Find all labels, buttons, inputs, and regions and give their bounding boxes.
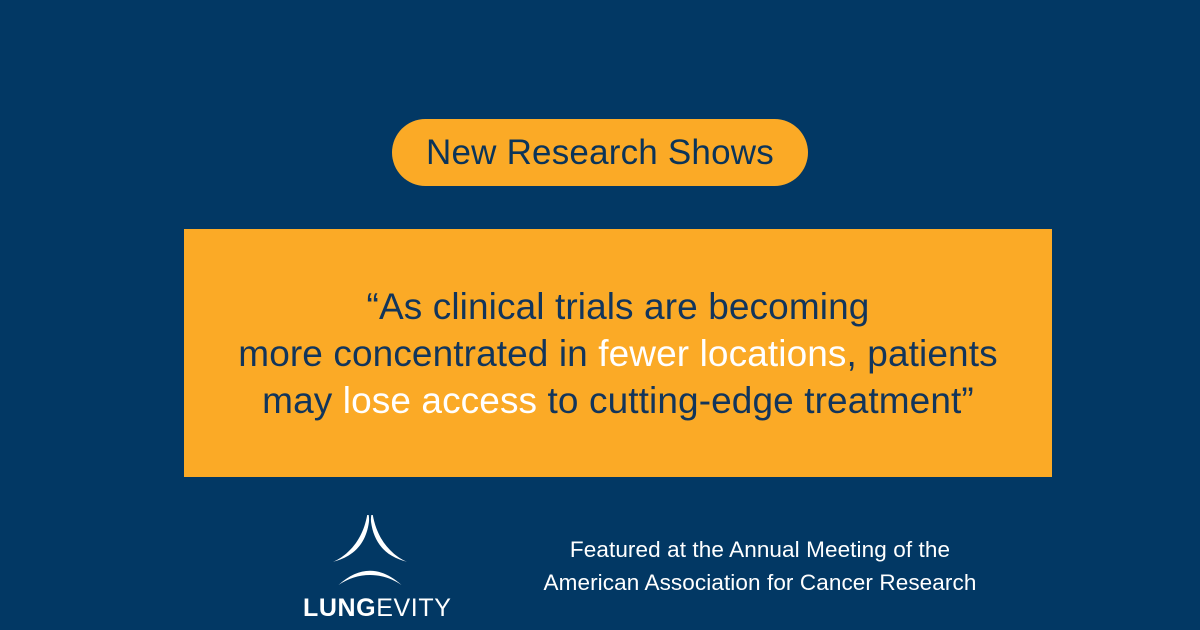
quote-segment: may	[262, 380, 343, 421]
eyebrow-label: New Research Shows	[426, 135, 774, 170]
quote-line-2: more concentrated in fewer locations, pa…	[238, 330, 997, 377]
lungevity-logo: LUNGEVITY	[303, 512, 436, 620]
promo-card: New Research Shows “As clinical trials a…	[0, 0, 1200, 630]
footer-caption-line-2: American Association for Cancer Research	[510, 566, 1010, 599]
quote-segment: , patients	[847, 333, 998, 374]
quote-segment-highlight: fewer locations	[598, 333, 846, 374]
quote-segment: to cutting-edge treatment”	[537, 380, 974, 421]
footer: LUNGEVITY Featured at the Annual Meeting…	[0, 500, 1200, 630]
quote-text: “As clinical trials are becoming more co…	[224, 283, 1011, 424]
wordmark-evity: EVITY	[376, 594, 451, 622]
footer-caption: Featured at the Annual Meeting of the Am…	[510, 533, 1010, 599]
wordmark-lung: LUNG	[303, 594, 376, 622]
lungevity-wordmark: LUNGEVITY	[303, 596, 436, 621]
quote-line-1: “As clinical trials are becoming	[238, 283, 997, 330]
quote-segment: “As clinical trials are becoming	[367, 286, 870, 327]
lungevity-trinity-mark-icon	[331, 512, 409, 588]
footer-caption-line-1: Featured at the Annual Meeting of the	[510, 533, 1010, 566]
eyebrow-pill: New Research Shows	[392, 119, 808, 186]
quote-card: “As clinical trials are becoming more co…	[184, 229, 1052, 477]
quote-segment-highlight: lose access	[343, 380, 537, 421]
quote-segment: more concentrated in	[238, 333, 598, 374]
quote-line-3: may lose access to cutting-edge treatmen…	[238, 377, 997, 424]
